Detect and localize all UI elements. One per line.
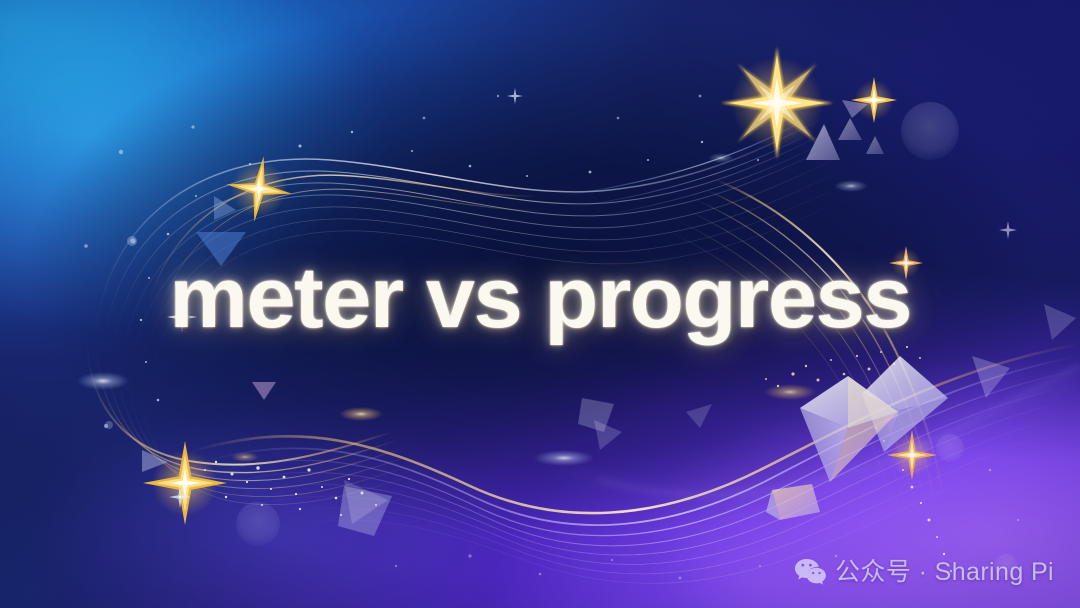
ribbon-gold-upper-left: [150, 175, 542, 316]
geometric-triangles: [142, 100, 1076, 524]
triangle-upper-right-dark: [842, 100, 868, 118]
watermark-text: 公众号 · Sharing Pi: [835, 560, 1054, 585]
octahedron-upper: [862, 356, 948, 452]
bokeh-circle-top-right: [901, 102, 959, 160]
ribbon-bundle-left-lower: [86, 322, 422, 505]
light-ribbons: [77, 118, 1080, 583]
ribbon-bottom-s-curve: [190, 344, 1080, 583]
ribbon-arcs-upper-right: [560, 118, 824, 220]
background-center-vignette: [0, 0, 1080, 608]
crystal-shapes: [338, 356, 948, 536]
octahedron-large: [800, 376, 898, 482]
ribbon-bundle-upper-left: [96, 120, 860, 414]
triangle-small-right: [838, 118, 862, 140]
gold-star-upper-left: [222, 152, 297, 227]
white-star-right-edge: [999, 221, 1017, 239]
triangle-lavender-right: [806, 124, 840, 160]
gold-star-small-top-right: [851, 77, 897, 123]
ribbon-bundle-right: [666, 180, 944, 550]
gold-star-lower-left: [143, 441, 227, 525]
crystal-shard-right-high: [578, 398, 614, 432]
crystal-shard-lower-left: [766, 484, 820, 520]
poster-canvas: meter vs progress 公众号 · Sharing Pi: [0, 0, 1080, 608]
decorative-artwork: [0, 0, 1080, 608]
triangle-right-corner: [1044, 304, 1076, 340]
triangle-blue-center-left: [196, 232, 246, 266]
triangle-center-low: [252, 382, 276, 400]
watermark: 公众号 · Sharing Pi: [795, 559, 1054, 586]
crystal-shard-center: [338, 486, 392, 536]
white-star-left-mid: [167, 302, 197, 332]
wechat-icon: [795, 559, 826, 586]
triangle-right-edge: [972, 356, 1010, 398]
triangle-upper-left: [214, 196, 236, 220]
triangle-bottom-center-2: [594, 420, 622, 450]
triangle-left-low: [142, 450, 168, 472]
bokeh-circle-left: [127, 236, 137, 246]
triangle-bottom-right-small: [686, 404, 712, 428]
triangle-bottom-center: [344, 480, 388, 524]
bokeh-circle-left-low: [105, 421, 113, 429]
bokeh-circle-bottom-left: [236, 502, 280, 546]
triangle-tiny-right: [866, 136, 884, 154]
white-star-upper-center: [507, 88, 523, 104]
gold-star-right-lower: [887, 430, 937, 480]
gold-star-large-top-right: [698, 24, 856, 182]
gold-star-title-right: [889, 246, 923, 280]
white-star-center-left: [169, 486, 191, 508]
sparkle-particles: [84, 95, 1019, 580]
background-color-wash: [0, 0, 1080, 608]
gold-stars: [143, 24, 1017, 525]
bokeh-circle-mid-right: [936, 434, 964, 462]
title-block: meter vs progress: [0, 255, 1080, 341]
ribbon-purple-band: [560, 366, 1080, 495]
bokeh-circles: [105, 102, 1018, 578]
background-gradient: [0, 0, 1080, 608]
page-title: meter vs progress: [169, 255, 911, 341]
ribbon-light-points: [77, 153, 868, 466]
